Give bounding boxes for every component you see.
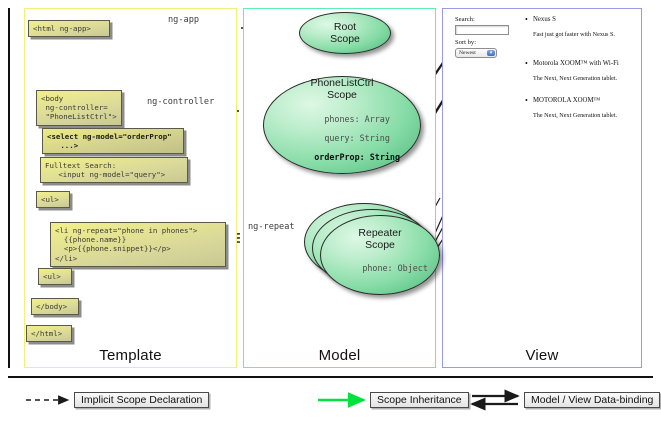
panel-template-label: Template [25, 347, 236, 364]
legend-item-model-view-data-binding: Model / View Data-binding [524, 392, 660, 408]
scope-repeater: Repeater Scope phone: Object [320, 215, 440, 295]
arrow-label-ng-app: ng-app [168, 15, 199, 25]
figure-left-rule [8, 8, 10, 368]
phone-list-item-snippet: The Next, Next Generation tablet. [533, 75, 617, 82]
code-box-ul-close: <ul> [38, 268, 72, 285]
scope-prop-orderprop: orderProp: String [314, 152, 400, 162]
code-box-ul-open: <ul> [36, 191, 70, 208]
scope-phonelistctrl: PhoneListCtrl Scope phones: Array query:… [263, 76, 421, 174]
view-sort-label: Sort by: [455, 39, 476, 46]
arrow-label-ng-controller: ng-controller [147, 97, 214, 107]
phone-list-item-name[interactable]: MOTOROLA XOOM™ [533, 97, 600, 104]
diagram-canvas: Template Model View [0, 0, 661, 425]
scope-phonelistctrl-title-2: Scope [327, 89, 357, 101]
scope-prop-phones: phones: Array [324, 114, 390, 124]
code-box-body-open: <body ng-controller= "PhoneListCtrl"> [36, 90, 122, 126]
code-box-li-ng-repeat: <li ng-repeat="phone in phones"> {{phone… [50, 222, 226, 267]
legend-item-scope-inheritance: Scope Inheritance [370, 392, 469, 408]
code-box-html-close: </html> [26, 325, 72, 342]
figure-bottom-rule [8, 376, 653, 378]
code-box-body-close: </body> [31, 298, 79, 315]
scope-phonelistctrl-props: phones: Array query: String orderProp: S… [284, 105, 400, 172]
scope-prop-query: query: String [324, 133, 390, 143]
scope-prop-phone: phone: Object [362, 263, 428, 273]
panel-view-label: View [443, 347, 641, 364]
sort-by-selected-value: Newest [459, 50, 476, 56]
phone-list-item-name[interactable]: Motorola XOOM™ with Wi-Fi [533, 60, 619, 67]
phone-list-item-snippet: The Next, Next Generation tablet. [533, 112, 617, 119]
phone-list-item-name[interactable]: Nexus S [533, 16, 556, 23]
legend-label-implicit-scope-declaration: Implicit Scope Declaration [81, 394, 202, 406]
scope-repeater-props: phone: Object [332, 255, 428, 284]
chevron-updown-icon: ▾ [487, 50, 495, 56]
phone-list-item-snippet: Fast just got faster with Nexus S. [533, 31, 615, 38]
code-box-fulltext-search: Fulltext Search: <input ng-model="query"… [40, 157, 188, 183]
scope-repeater-title-1: Repeater [358, 227, 401, 239]
sort-by-select[interactable]: Newest ▾ [455, 48, 497, 58]
code-box-select-orderprop: <select ng-model="orderProp" ...> [42, 128, 184, 154]
legend-item-implicit-scope-declaration: Implicit Scope Declaration [74, 392, 209, 408]
scope-repeater-title-2: Scope [365, 239, 395, 251]
scope-phonelistctrl-title-1: PhoneListCtrl [310, 77, 373, 89]
panel-model: Model [243, 8, 436, 368]
arrow-label-ng-repeat: ng-repeat [248, 222, 295, 232]
scope-root-title-2: Scope [330, 33, 360, 45]
legend-label-model-view-data-binding: Model / View Data-binding [531, 394, 653, 406]
code-box-html-open: <html ng-app> [28, 20, 110, 37]
view-search-label: Search: [455, 16, 475, 23]
scope-root: Root Scope [299, 12, 391, 54]
panel-model-label: Model [244, 347, 435, 364]
legend-label-scope-inheritance: Scope Inheritance [377, 394, 462, 406]
scope-root-title-1: Root [334, 21, 356, 33]
search-input[interactable] [455, 25, 509, 35]
